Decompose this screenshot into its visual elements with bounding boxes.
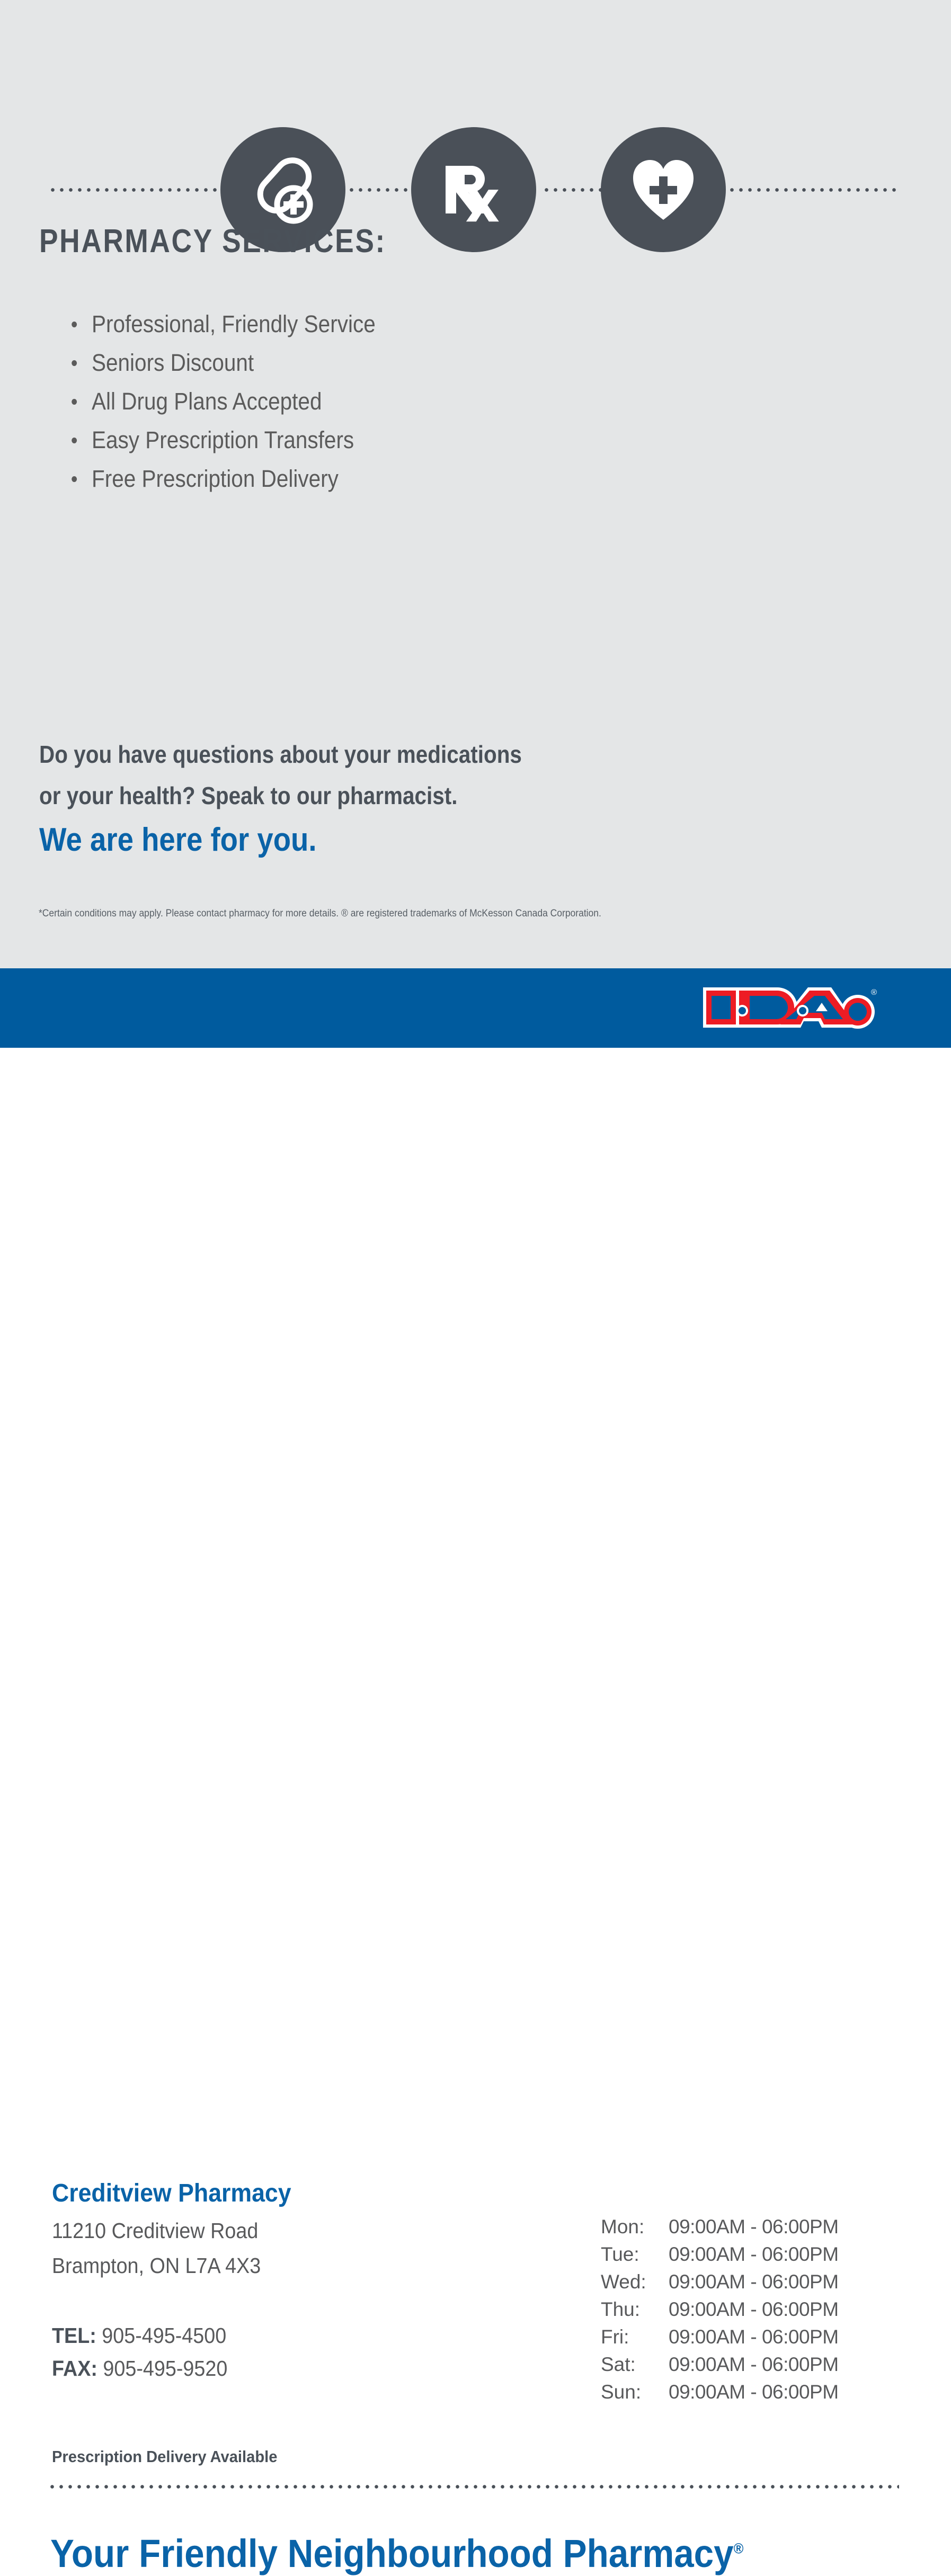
bullet-icon [72, 360, 77, 366]
service-label: Professional, Friendly Service [92, 310, 376, 337]
brand-band: ® [0, 968, 951, 1048]
hours-day: Mon: [601, 2213, 669, 2241]
list-item: Free Prescription Delivery [68, 459, 376, 498]
dotted-rule-left [51, 188, 226, 192]
heart-plus-icon [601, 127, 726, 252]
registered-mark: ® [871, 988, 877, 997]
page-title: PHARMACY SERVICES: [39, 222, 386, 260]
store-name: Creditview Pharmacy [52, 2179, 291, 2208]
question-line-2: or your health? Speak to our pharmacist. [39, 775, 522, 816]
dotted-rule-mid-right [545, 188, 603, 192]
promise-statement: We are here for you. [39, 821, 317, 859]
table-row: Sun: 09:00AM - 06:00PM [601, 2378, 839, 2406]
hours-day: Thu: [601, 2296, 669, 2323]
table-row: Fri: 09:00AM - 06:00PM [601, 2323, 839, 2351]
table-row: Wed: 09:00AM - 06:00PM [601, 2268, 839, 2296]
hours-time: 09:00AM - 06:00PM [669, 2296, 839, 2323]
question-line-1: Do you have questions about your medicat… [39, 734, 522, 775]
bullet-icon [72, 322, 77, 327]
fax-row: FAX: 905-495-9520 [52, 2352, 227, 2385]
store-address: 11210 Creditview Road Brampton, ON L7A 4… [52, 2213, 261, 2283]
bullet-icon [72, 399, 77, 405]
service-label: Seniors Discount [92, 349, 254, 376]
services-list: Professional, Friendly Service Seniors D… [68, 305, 410, 498]
table-row: Thu: 09:00AM - 06:00PM [601, 2296, 839, 2323]
store-hours-table: Mon: 09:00AM - 06:00PM Tue: 09:00AM - 06… [601, 2213, 839, 2406]
hours-time: 09:00AM - 06:00PM [669, 2378, 839, 2406]
dotted-divider [50, 2485, 899, 2489]
store-info-panel: Creditview Pharmacy 11210 Creditview Roa… [0, 1048, 951, 1586]
address-line-2: Brampton, ON L7A 4X3 [52, 2248, 261, 2283]
icon-strip [0, 64, 951, 191]
hours-day: Fri: [601, 2323, 669, 2351]
service-label: All Drug Plans Accepted [92, 388, 322, 415]
hours-time: 09:00AM - 06:00PM [669, 2213, 839, 2241]
service-label: Free Prescription Delivery [92, 465, 339, 492]
dotted-rule-mid-left [350, 188, 412, 192]
hours-day: Sun: [601, 2378, 669, 2406]
ida-logo: ® [699, 980, 884, 1035]
service-label: Easy Prescription Transfers [92, 426, 354, 453]
hours-time: 09:00AM - 06:00PM [669, 2241, 839, 2268]
hours-day: Sat: [601, 2351, 669, 2378]
footer-tagline: Your Friendly Neighbourhood Pharmacy® [50, 2531, 743, 2576]
dotted-rule-right [730, 188, 900, 192]
table-row: Mon: 09:00AM - 06:00PM [601, 2213, 839, 2241]
rx-icon [411, 127, 536, 252]
tel-label: TEL: [52, 2323, 96, 2348]
fax-value: 905-495-9520 [103, 2356, 227, 2381]
delivery-note: Prescription Delivery Available [52, 2447, 277, 2466]
list-item: Easy Prescription Transfers [68, 421, 376, 459]
list-item: All Drug Plans Accepted [68, 382, 376, 421]
list-item: Seniors Discount [68, 343, 376, 382]
hours-day: Wed: [601, 2268, 669, 2296]
tel-value: 905-495-4500 [102, 2323, 226, 2348]
fax-label: FAX: [52, 2356, 97, 2381]
hours-time: 09:00AM - 06:00PM [669, 2351, 839, 2378]
legal-disclaimer: *Certain conditions may apply. Please co… [39, 908, 601, 920]
telephone-row: TEL: 905-495-4500 [52, 2319, 227, 2352]
store-contact: TEL: 905-495-4500 FAX: 905-495-9520 [52, 2319, 227, 2385]
services-panel: PHARMACY SERVICES: Professional, Friendl… [0, 0, 951, 968]
address-line-1: 11210 Creditview Road [52, 2213, 261, 2248]
bullet-icon [72, 476, 77, 482]
bullet-icon [72, 438, 77, 443]
hours-time: 09:00AM - 06:00PM [669, 2323, 839, 2351]
hours-day: Tue: [601, 2241, 669, 2268]
table-row: Sat: 09:00AM - 06:00PM [601, 2351, 839, 2378]
pharmacist-question: Do you have questions about your medicat… [39, 734, 522, 816]
tagline-text: Your Friendly Neighbourhood Pharmacy [50, 2532, 734, 2575]
hours-time: 09:00AM - 06:00PM [669, 2268, 839, 2296]
list-item: Professional, Friendly Service [68, 305, 376, 343]
registered-icon: ® [734, 2540, 744, 2556]
table-row: Tue: 09:00AM - 06:00PM [601, 2241, 839, 2268]
